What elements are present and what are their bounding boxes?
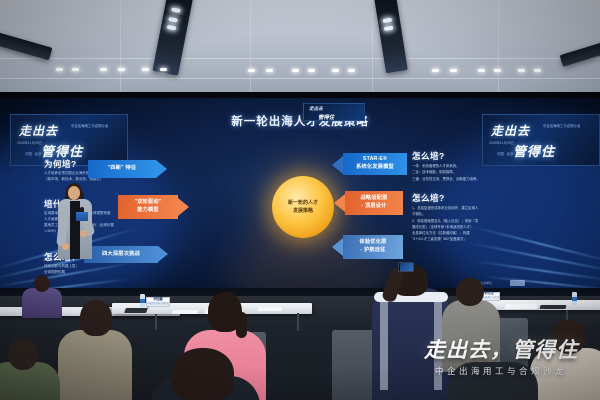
mini-banner-line1: 走出去 <box>309 106 323 112</box>
question-body-how-left: 持续创新与构建上层； 全球视野拓展 <box>44 264 130 276</box>
laptop <box>124 308 148 313</box>
question-bullets-right-1: 一体：系统管理的人才体系统。 二合：技术赋能、机制保障。 三通：业务性交流、贯穿… <box>412 163 480 182</box>
paper-document <box>171 310 198 314</box>
led-screen: 新一轮出海人才发展策略 走出去 管得住 走出去 中企出海用工与合规沙龙 2025… <box>0 98 600 296</box>
paper-document <box>504 304 537 309</box>
callout-box-four-challenges: 四大深层次挑战 <box>84 246 158 263</box>
paper-document <box>258 307 283 311</box>
smartphone-screen <box>400 263 413 271</box>
name-card-org: 中国企业海外合规研究院 <box>147 301 169 309</box>
water-bottle <box>572 292 577 305</box>
overlay-subtitle: 中企出海用工与合规沙龙 <box>408 365 594 377</box>
callout-box-star-e: STAR-E® 系统化发展模型 <box>343 153 407 175</box>
bullet-item: 三通：业务性交流、贯穿全、创新能力培养。 <box>412 176 480 182</box>
speaker-head <box>68 186 80 200</box>
question-bullets-right-2: 1、总结复盘形成体系业务闭环，建立区域人 才梯队； 2、现实基础是否认（融入社区… <box>412 205 478 243</box>
right-banner-line1: 走出去 <box>491 122 530 139</box>
overlay-main-title: 走出去，管得住 <box>408 340 594 361</box>
laptop <box>540 305 567 309</box>
ceiling-beam <box>374 0 408 73</box>
name-card: 尹国豪 中国企业海外合规研究院 <box>146 297 170 307</box>
callout-box-four-new: "四新" 特征 <box>88 160 156 178</box>
callout-arrow-strategy-layer <box>334 194 345 212</box>
callout-box-dual-drive: "双轮驱动" 能力模型 <box>118 195 178 219</box>
callout-arrow-four-new <box>156 160 167 178</box>
left-banner-line1: 走出去 <box>19 122 58 139</box>
left-banner-location: 中国 · 北京 <box>25 151 42 156</box>
callout-arrow-star-e <box>332 156 343 174</box>
callout-arrow-experience-layer <box>332 238 343 256</box>
right-banner-location: 中国 · 北京 <box>497 151 514 156</box>
left-banner-date: 2025年11月06日 <box>17 140 42 145</box>
ceiling-beam <box>152 0 193 76</box>
microphone-flag <box>76 212 88 221</box>
top-mini-banner: 走出去 管得住 <box>303 103 365 121</box>
question-heading-how-right-2: 怎么培? <box>412 192 445 204</box>
bullet-item: "3＋6人才三级发展" 360°复盘模式； <box>412 236 478 242</box>
ceiling-beam <box>560 37 600 67</box>
right-event-banner: 走出去 中企出海用工与合规沙龙 2025年11月06日 管得住 中国 · 北京 <box>482 114 600 166</box>
callout-arrow-four-challenges <box>158 246 168 262</box>
ceiling-beam <box>0 29 52 61</box>
callout-box-experience-layer: 体验优化层 - 护航远征 <box>343 235 403 259</box>
mini-banner-line2: 管得住 <box>318 113 334 121</box>
callout-box-strategy-layer: 战略适配层 - 顶层设计 <box>345 191 403 215</box>
bullet-item: 2、现实基础是否认（融入社区）；采用「发 <box>412 218 478 224</box>
right-banner-subtitle: 中企出海用工与合规沙龙 <box>543 124 597 129</box>
left-banner-subtitle: 中企出海用工与合规沙龙 <box>71 124 125 129</box>
core-line1: 新一轮的人才 <box>288 199 318 207</box>
overlay-branding: 走出去，管得住 中企出海用工与合规沙龙 <box>408 340 594 377</box>
water-bottle <box>140 294 145 307</box>
question-heading-why: 为何培? <box>44 158 77 170</box>
question-heading-how-right-1: 怎么培? <box>412 150 445 162</box>
conference-photo: 新一轮出海人才发展策略 走出去 管得住 走出去 中企出海用工与合规沙龙 2025… <box>0 0 600 400</box>
core-circle: 新一轮的人才 发展策略 <box>272 176 334 238</box>
ceiling <box>0 0 600 98</box>
right-banner-date: 2025年11月06日 <box>489 140 514 145</box>
callout-arrow-dual-drive <box>178 198 189 216</box>
core-line2: 发展策略 <box>288 207 318 215</box>
right-banner-line2: 管得住 <box>513 141 555 160</box>
